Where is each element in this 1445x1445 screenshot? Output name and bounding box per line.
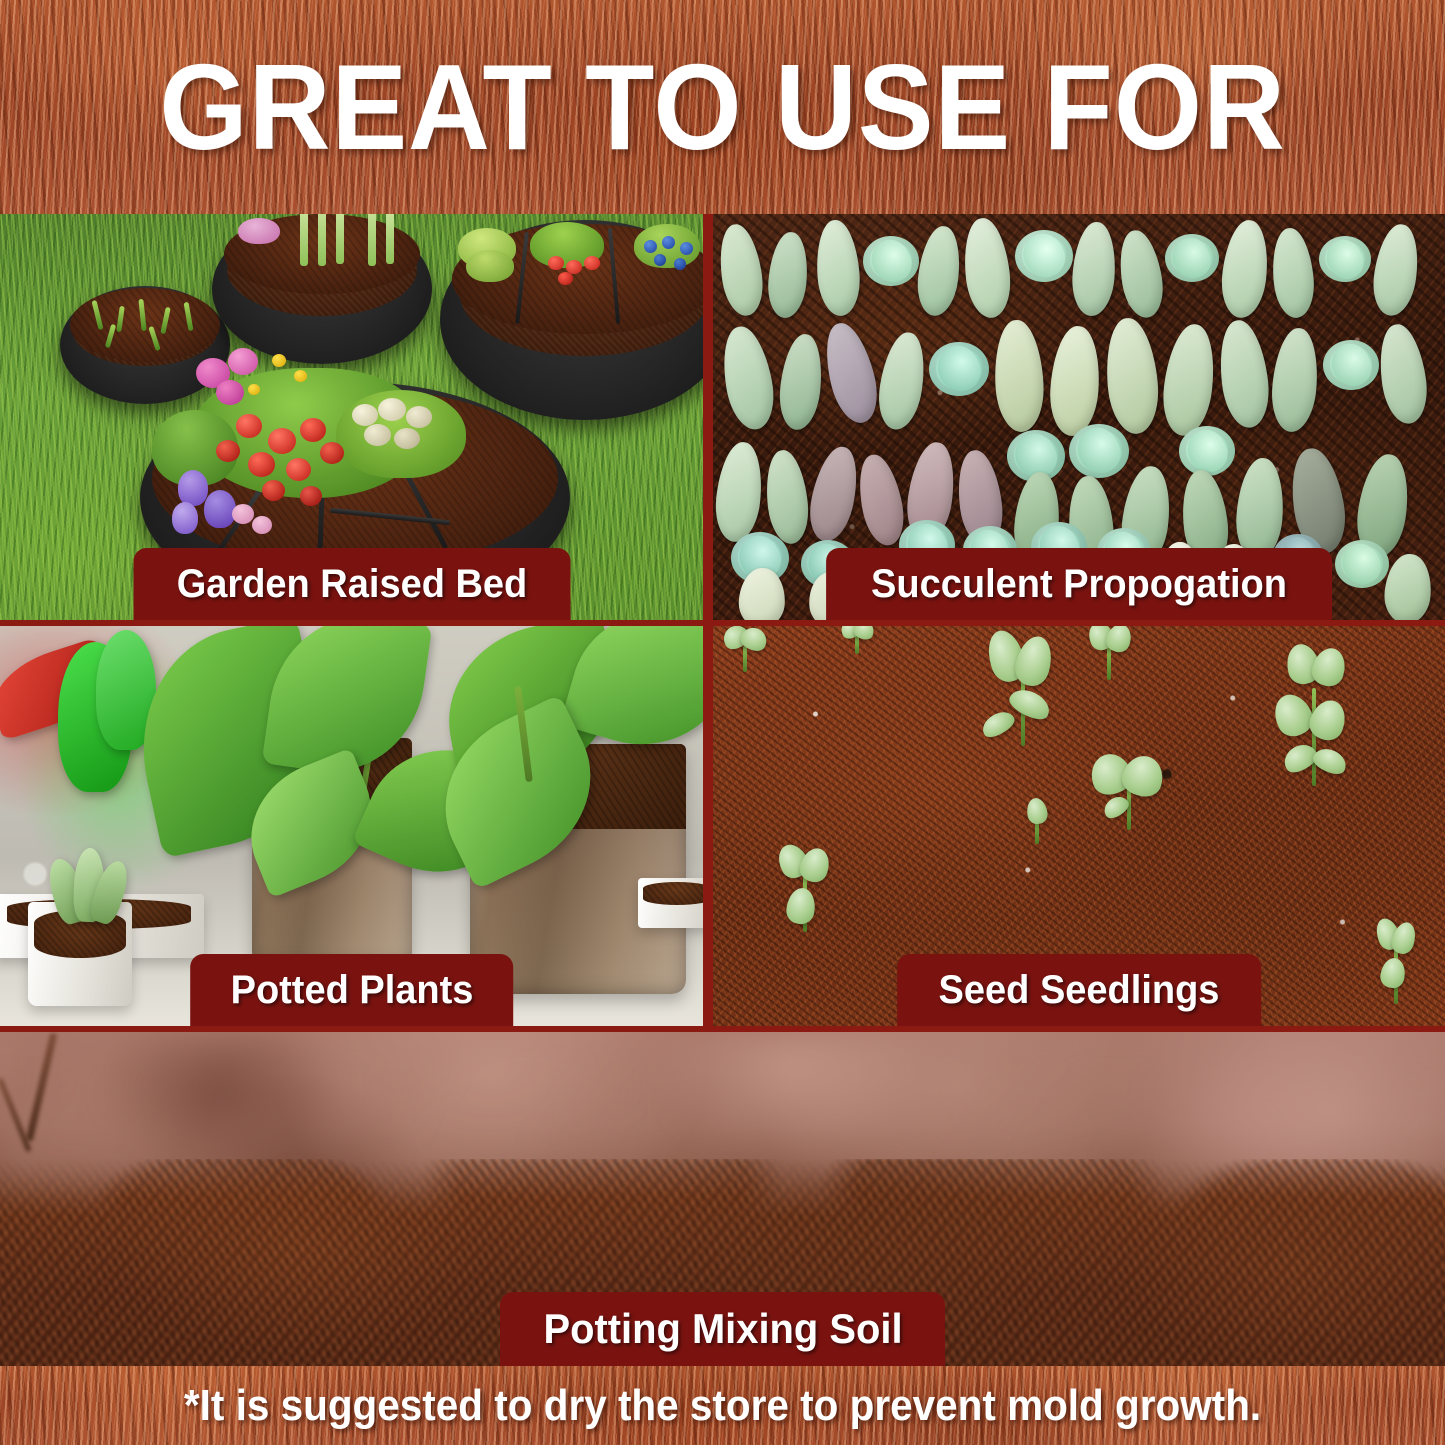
seedling — [779, 844, 831, 932]
footer-note-text: *It is suggested to dry the store to pre… — [184, 1384, 1261, 1428]
purple-flower — [204, 490, 236, 528]
cauliflower-head — [406, 406, 432, 428]
onion-stalk — [336, 214, 344, 264]
succulent-leaf-cutting — [1047, 324, 1103, 437]
purple-flower — [178, 470, 208, 506]
panel-label-text: Potting Mixing Soil — [543, 1308, 902, 1350]
succulent-leaf-cutting — [1215, 318, 1274, 431]
blueberry-fruit — [644, 240, 657, 253]
panel-label-succulent-propogation: Succulent Propogation — [826, 548, 1332, 620]
seedling — [1023, 798, 1051, 844]
white-tray — [638, 878, 703, 928]
blueberry-fruit — [654, 254, 666, 266]
succulent-leaf-cutting — [713, 440, 766, 544]
cauliflower-head — [364, 424, 391, 446]
flower-cluster — [238, 218, 280, 244]
panel-label-seed-seedlings: Seed Seedlings — [897, 954, 1261, 1026]
seedling-stem — [855, 636, 859, 654]
seedling-stem — [1312, 688, 1316, 786]
succulent-rosette — [1323, 340, 1379, 390]
cotyledon-leaf — [1025, 796, 1049, 825]
onion-stalk — [318, 214, 326, 266]
panel-label-text: Seed Seedlings — [939, 970, 1220, 1010]
use-case-grid: Garden Raised Bed — [0, 214, 1445, 1366]
succulent-leaf-cutting — [765, 231, 810, 320]
succulent-leaf-cutting — [1382, 552, 1434, 620]
succulent-leaf-cutting — [1102, 316, 1162, 436]
use-case-seed-seedlings[interactable]: Seed Seedlings — [713, 626, 1445, 1026]
succulent-leaf-cutting — [1369, 222, 1423, 319]
succulent-leaf-cutting — [1269, 326, 1322, 433]
tomato-fruit — [320, 442, 344, 464]
tomato-fruit — [262, 480, 285, 501]
use-case-succulent-propogation[interactable]: Succulent Propogation — [713, 214, 1445, 620]
yellow-flower — [272, 354, 286, 367]
blueberry-fruit — [662, 236, 675, 249]
lettuce-leaves — [466, 250, 514, 282]
succulent-leaf-cutting — [874, 329, 931, 432]
succulent-leaf-cutting — [1158, 321, 1219, 438]
succulent-leaf-cutting — [992, 319, 1046, 433]
cauliflower-head — [394, 428, 420, 449]
cauliflower-head — [378, 398, 406, 421]
succulent-rosette — [929, 342, 989, 396]
succulent-rosette — [1015, 230, 1073, 282]
succulent-rosette — [1179, 426, 1235, 476]
succulent-rosette — [1069, 424, 1129, 478]
succulent-leaf-cutting — [715, 222, 767, 319]
panel-label-text: Succulent Propogation — [871, 564, 1287, 604]
succulent-leaf-cutting — [1070, 221, 1118, 318]
panel-label-potted-plants: Potted Plants — [190, 954, 514, 1026]
tomato-fruit — [268, 428, 296, 454]
seedling — [1091, 754, 1167, 830]
seedling — [839, 626, 875, 654]
cotyledon-leaf — [1118, 751, 1167, 800]
seedling — [1269, 644, 1359, 786]
succulent-leaf-cutting — [1114, 227, 1167, 320]
footer-banner: *It is suggested to dry the store to pre… — [0, 1366, 1445, 1445]
tomato-fruit — [548, 256, 564, 270]
succulent-leaf-cutting — [914, 224, 965, 318]
light-pink-flower — [252, 516, 272, 534]
light-pink-flower — [232, 504, 254, 524]
tomato-fruit — [584, 256, 600, 270]
tomato-fruit — [558, 272, 573, 285]
product-infographic-poster: GREAT TO USE FOR — [0, 0, 1445, 1445]
yellow-flower — [294, 370, 307, 382]
cotyledon-leaf — [785, 886, 818, 926]
blueberry-fruit — [680, 242, 693, 255]
seedling — [1087, 626, 1131, 680]
succulent-leaf-cutting — [960, 216, 1014, 320]
succulent-rosette — [1335, 540, 1389, 588]
succulent-leaf-cutting — [814, 219, 863, 318]
succulent-leaf-cutting — [817, 318, 884, 428]
pink-flower — [216, 380, 244, 405]
succulent-leaf-cutting — [1269, 226, 1317, 319]
seedling — [1375, 918, 1417, 1004]
use-case-garden-raised-bed[interactable]: Garden Raised Bed — [0, 214, 703, 620]
panel-label-text: Potted Plants — [230, 970, 473, 1010]
onion-stalk — [368, 214, 376, 266]
pink-flower — [228, 348, 258, 375]
blueberry-fruit — [674, 258, 686, 270]
succulent-rosette — [863, 236, 919, 286]
page-title-text: GREAT TO USE FOR — [159, 46, 1285, 168]
succulent-leaf-cutting — [716, 323, 779, 433]
cauliflower-head — [352, 404, 378, 426]
succulent-leaf-cutting — [803, 443, 864, 546]
true-leaf — [978, 707, 1017, 741]
succulent-leaf-cutting — [1374, 321, 1431, 426]
tomato-fruit — [216, 440, 240, 462]
seedling — [983, 630, 1063, 746]
tomato-fruit — [286, 458, 311, 481]
succulent-rosette — [1319, 236, 1371, 282]
cotyledon-leaf — [1011, 633, 1056, 690]
yellow-flower — [248, 384, 260, 395]
onion-stalk — [386, 214, 394, 264]
succulent-leaf-cutting — [762, 448, 812, 546]
panel-label-text: Garden Raised Bed — [176, 564, 527, 604]
seedling-stem — [1107, 646, 1111, 680]
seedling-stem — [743, 646, 747, 672]
seedling — [723, 626, 767, 672]
onion-stalk — [300, 214, 308, 266]
tomato-fruit — [248, 452, 275, 477]
panel-label-garden-raised-bed: Garden Raised Bed — [133, 548, 570, 620]
succulent-rosette — [1165, 234, 1219, 282]
tomato-fruit — [300, 486, 322, 506]
use-case-potting-mixing-soil[interactable]: Potting Mixing Soil — [0, 1032, 1445, 1366]
cotyledon-leaf — [1379, 956, 1408, 990]
use-case-potted-plants[interactable]: Potted Plants — [0, 626, 703, 1026]
purple-flower — [172, 502, 198, 534]
cotyledon-leaf — [1308, 644, 1349, 689]
succulent-leaf-cutting — [776, 332, 826, 432]
tomato-fruit — [300, 418, 326, 442]
panel-label-potting-mixing-soil: Potting Mixing Soil — [500, 1292, 946, 1366]
header-banner: GREAT TO USE FOR — [0, 0, 1445, 214]
succulent-leaf-cutting — [1218, 218, 1272, 320]
page-title: GREAT TO USE FOR — [0, 46, 1445, 168]
tomato-fruit — [236, 414, 262, 438]
footer-note: *It is suggested to dry the store to pre… — [0, 1384, 1445, 1428]
